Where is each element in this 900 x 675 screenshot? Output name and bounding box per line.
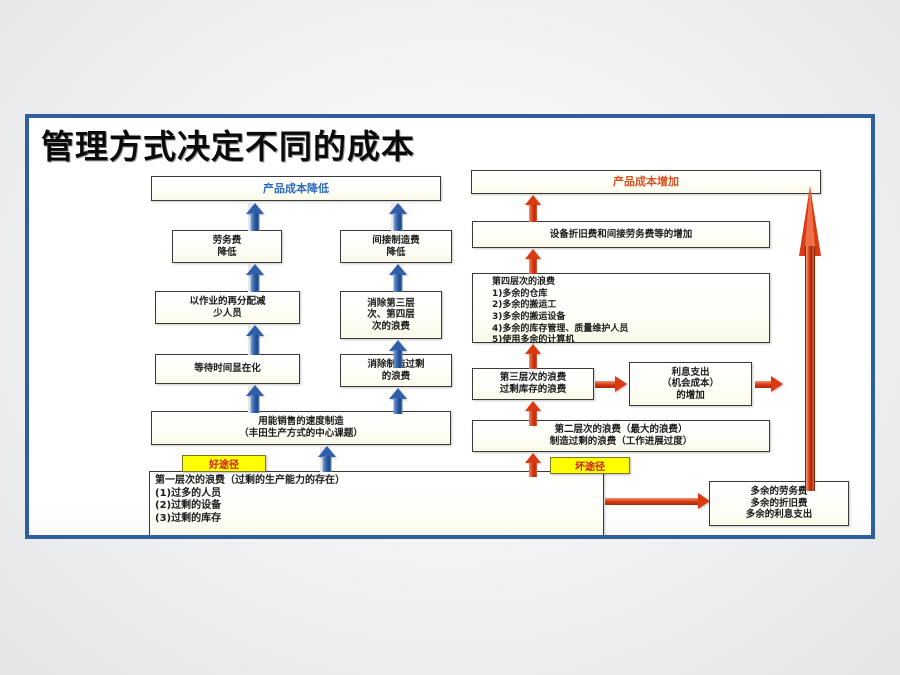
arrow-up-red-c (523, 344, 543, 369)
box-right-header: 产品成本增加 (471, 170, 821, 194)
arrow-up-red-total-cost (798, 186, 822, 491)
box-second-level-waste: 第二层次的浪费（最大的浪费） 制造过剩的浪费（工作进展过度） (472, 420, 770, 452)
box-left-header: 产品成本降低 (151, 176, 441, 201)
box-waiting-time-visible: 等待时间显在化 (155, 354, 300, 384)
arrow-up-blue-c2-a (387, 203, 409, 231)
arrow-up-red-e (523, 453, 543, 477)
slide-content-area: 管理方式决定不同的成本 产品成本降低 劳务费 降低 以作业的再分配减 少人员 (29, 118, 871, 535)
box-depreciation-indirect-labor-increase: 设备折旧费和间接劳务费等的增加 (472, 221, 770, 248)
arrow-up-blue-c2-d (387, 388, 409, 414)
arrow-up-blue-c1-b (244, 264, 266, 292)
box-first-level-waste: 第一层次的浪费（过剩的生产能力的存在） (1)过多的人员 (2)过剩的设备 (3… (149, 471, 604, 535)
box-produce-at-sales-pace: 用能销售的速度制造 （丰田生产方式的中心课题） (151, 411, 451, 445)
page-title: 管理方式决定不同的成本 (41, 120, 415, 168)
arrow-up-blue-c1-a (244, 203, 266, 231)
box-interest-expense-increase: 利息支出 （机会成本） 的增加 (629, 362, 752, 406)
box-indirect-mfg-cost-reduction: 间接制造费 降低 (340, 230, 452, 263)
arrow-up-blue-c2-b (387, 264, 409, 292)
slide-frame: 管理方式决定不同的成本 产品成本降低 劳务费 降低 以作业的再分配减 少人员 (25, 114, 875, 539)
box-labor-cost-reduction: 劳务费 降低 (172, 230, 282, 263)
arrow-up-red-b (523, 249, 543, 274)
tag-good-path: 好途径 (182, 455, 266, 472)
box-excess-costs: 多余的劳务费 多余的折旧费 多余的利息支出 (709, 481, 849, 526)
arrow-up-red-d (523, 401, 543, 426)
arrow-up-red-a (523, 195, 543, 222)
box-third-level-waste: 第三层次的浪费 过剩库存的浪费 (472, 368, 594, 400)
box-fourth-level-waste: 第四层次的浪费 1)多余的仓库 2)多余的搬运工 3)多余的搬运设备 4)多余的… (472, 273, 770, 343)
arrow-right-to-interest-expense (595, 376, 627, 392)
tag-bad-path: 坏途径 (550, 457, 630, 474)
slide-canvas: 管理方式决定不同的成本 产品成本降低 劳务费 降低 以作业的再分配减 少人员 (0, 0, 900, 675)
arrow-up-blue-c1-c (244, 325, 266, 355)
arrow-up-blue-c1-d (244, 385, 266, 413)
arrow-up-blue-c2-c (387, 340, 409, 368)
arrow-right-to-excess-costs (605, 493, 710, 509)
arrow-up-blue-to-first-waste (316, 446, 338, 472)
box-eliminate-3rd-4th-waste: 消除第三层 次、第四层 次的浪费 (340, 291, 442, 339)
box-reassign-operations: 以作业的再分配减 少人员 (155, 291, 300, 324)
arrow-right-interest-to-total (755, 376, 783, 392)
